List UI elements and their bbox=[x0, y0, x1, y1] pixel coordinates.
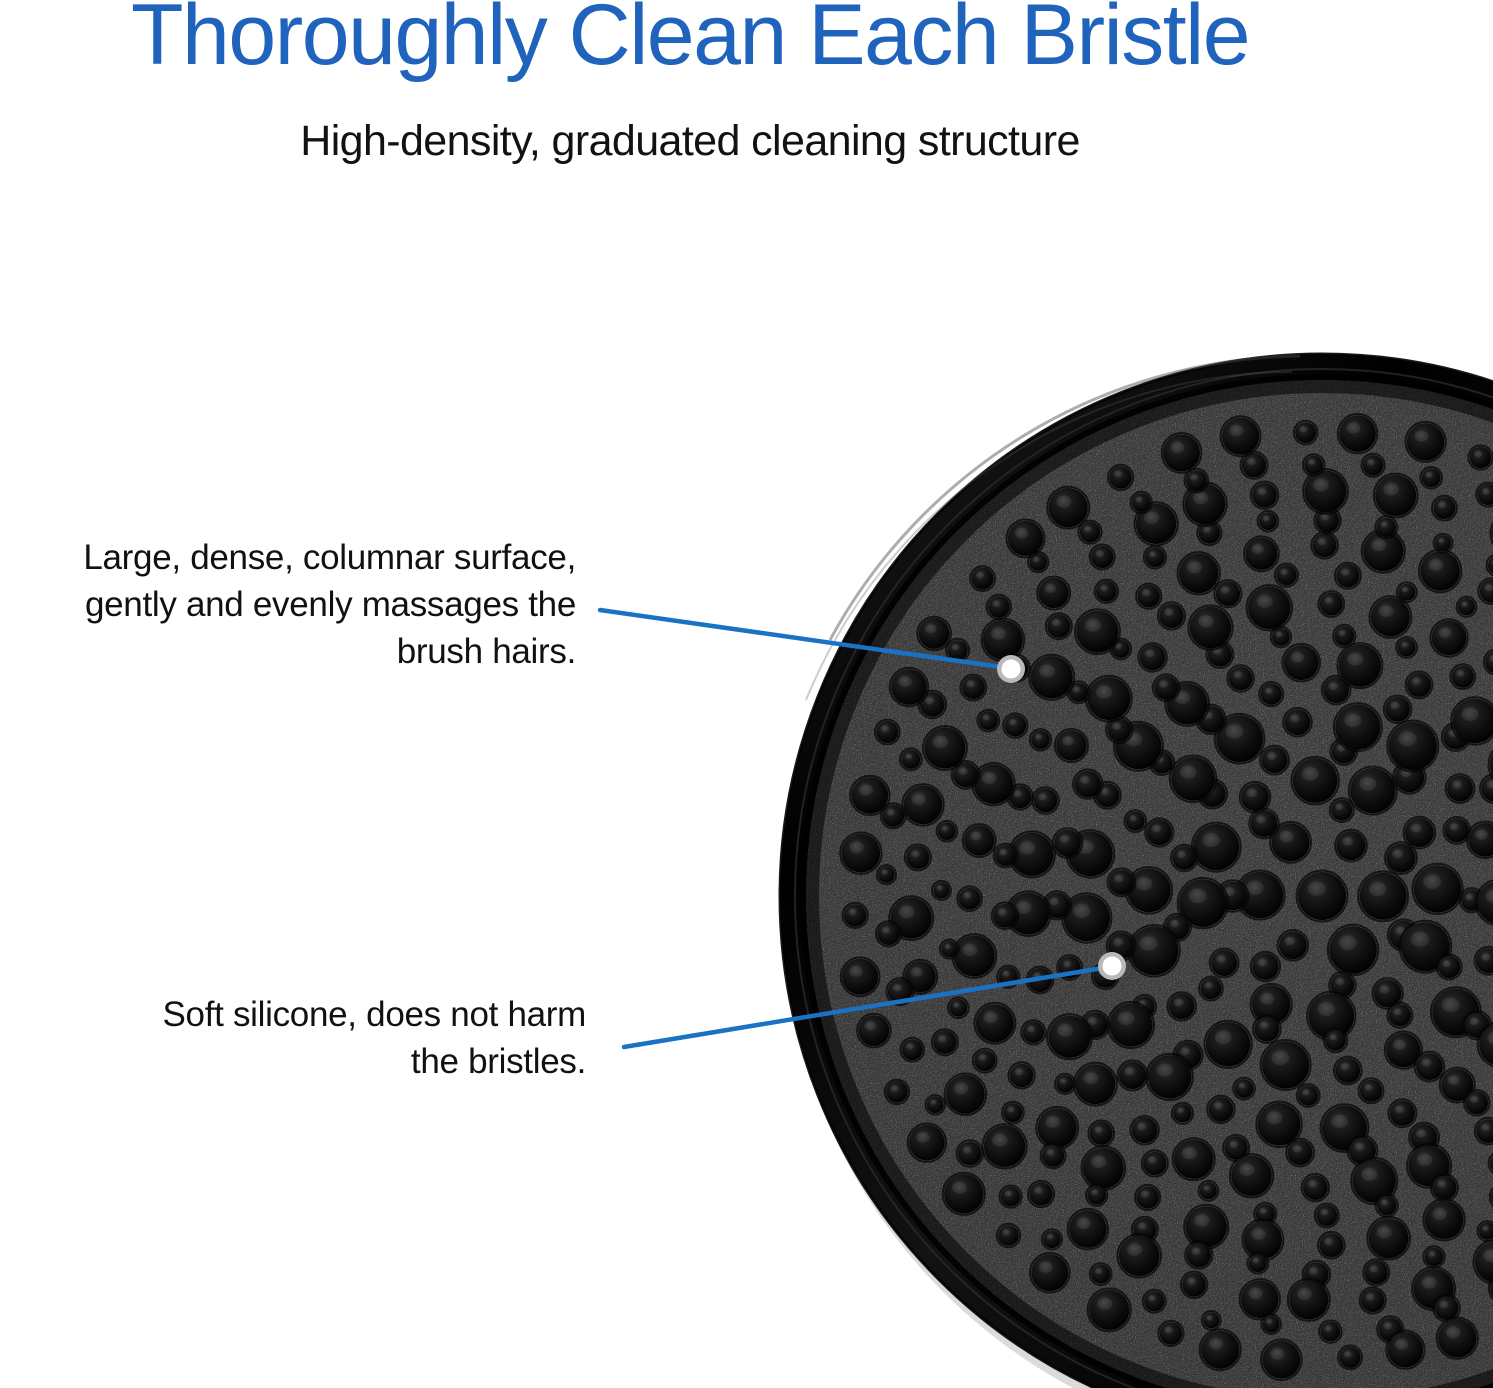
callout-label-soft-silicone: Soft silicone, does not harm the bristle… bbox=[58, 992, 586, 1086]
page-subtitle: High-density, graduated cleaning structu… bbox=[0, 120, 1380, 163]
callout-label-columnar-surface: Large, dense, columnar surface, gently a… bbox=[8, 535, 576, 676]
product-image bbox=[0, 0, 1493, 1388]
page-title: Thoroughly Clean Each Bristle bbox=[0, 0, 1380, 78]
infographic-canvas: Thoroughly Clean Each Bristle High-densi… bbox=[0, 0, 1493, 1388]
